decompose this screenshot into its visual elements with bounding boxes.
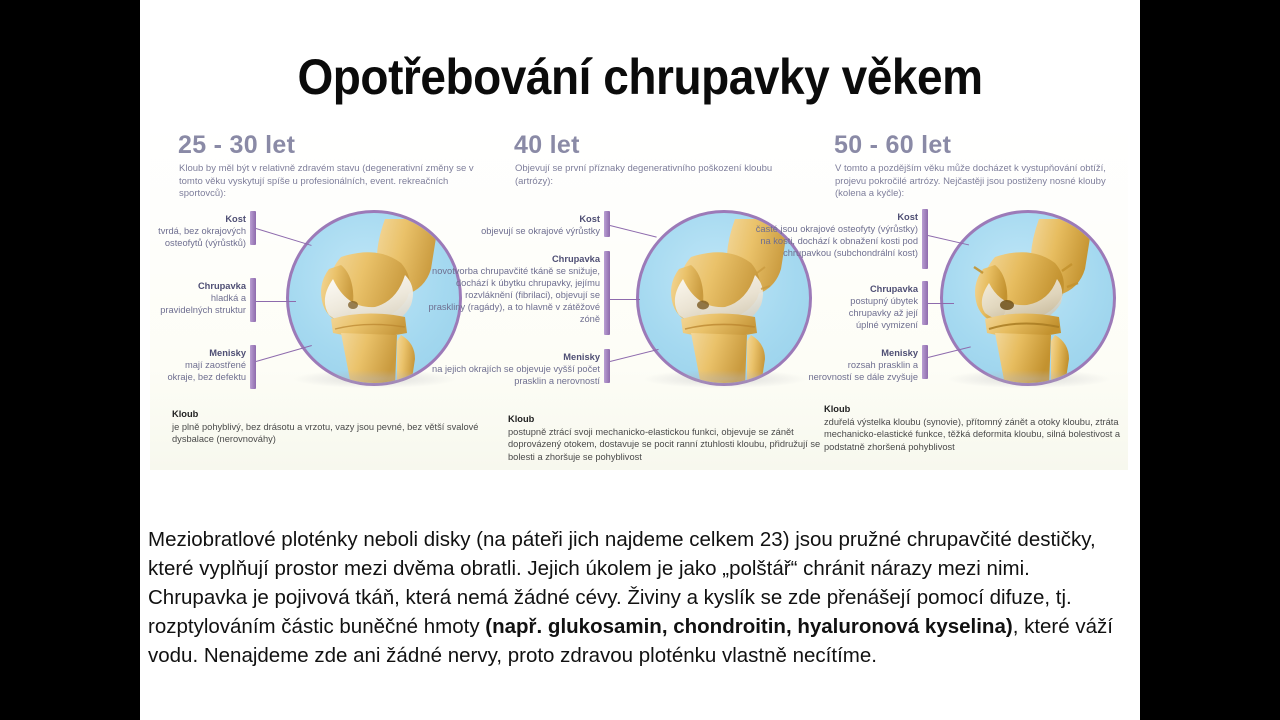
label-text: objevují se okrajové výrůstky bbox=[481, 226, 600, 236]
label-chrupavka: Chrupavka postupný úbytek chrupavky až j… bbox=[828, 283, 918, 331]
slide-content: Opotřebování chrupavky věkem 25 - 30 let… bbox=[140, 0, 1140, 720]
joint-summary-text: je plně pohyblivý, bez drásotu a vrzotu,… bbox=[172, 422, 478, 445]
leader-chrupavka bbox=[610, 299, 640, 300]
knee-shadow bbox=[948, 370, 1110, 388]
label-title: Kost bbox=[897, 212, 918, 222]
tick-kost bbox=[922, 209, 928, 269]
label-menisky: Menisky mají zaostřené okraje, bez defek… bbox=[158, 347, 246, 383]
label-chrupavka: Chrupavka hladká a pravidelných struktur bbox=[158, 280, 246, 316]
leader-chrupavka bbox=[256, 301, 296, 302]
label-text: postupný úbytek chrupavky až její úplné … bbox=[849, 296, 918, 330]
tick-menisky bbox=[922, 345, 928, 379]
slide-screen: Opotřebování chrupavky věkem 25 - 30 let… bbox=[0, 0, 1280, 720]
age-heading: 25 - 30 let bbox=[178, 133, 295, 158]
body-part-2-bold: (např. glukosamin, chondroitin, hyaluron… bbox=[485, 615, 1012, 638]
page-title: Opotřebování chrupavky věkem bbox=[180, 48, 1100, 106]
letterbox-left bbox=[0, 0, 140, 720]
label-text: mají zaostřené okraje, bez defektu bbox=[167, 360, 246, 382]
tick-kost bbox=[604, 211, 610, 237]
joint-summary-text: postupně ztrácí svoji mechanicko-elastic… bbox=[508, 427, 820, 462]
joint-summary-title: Kloub bbox=[508, 414, 534, 424]
body-paragraph: Meziobratlové ploténky neboli disky (na … bbox=[148, 525, 1113, 671]
label-menisky: Menisky rozsah prasklin a nerovností se … bbox=[802, 347, 918, 383]
knee-joint-diagram bbox=[943, 213, 1116, 386]
joint-summary: Kloub je plně pohyblivý, bez drásotu a v… bbox=[172, 408, 487, 446]
label-title: Kost bbox=[579, 214, 600, 224]
label-text: časté jsou okrajové osteofyty (výrůstky)… bbox=[756, 224, 918, 258]
label-kost: Kost časté jsou okrajové osteofyty (výrů… bbox=[746, 211, 918, 259]
age-intro-text: V tomto a pozdějším věku může docházet k… bbox=[835, 163, 1128, 201]
label-title: Chrupavka bbox=[198, 281, 246, 291]
joint-summary: Kloub postupně ztrácí svoji mechanicko-e… bbox=[508, 413, 838, 463]
tick-chrupavka bbox=[250, 278, 256, 322]
age-heading: 50 - 60 let bbox=[834, 133, 951, 158]
joint-summary: Kloub zduřelá výstelka kloubu (synovie),… bbox=[824, 403, 1124, 453]
label-title: Kost bbox=[225, 214, 246, 224]
label-title: Menisky bbox=[209, 348, 246, 358]
leader-chrupavka bbox=[928, 303, 954, 304]
age-column-50-60: 50 - 60 let V tomto a pozdějším věku můž… bbox=[818, 125, 1123, 470]
label-title: Menisky bbox=[563, 352, 600, 362]
age-heading: 40 let bbox=[514, 133, 580, 158]
label-kost: Kost objevují se okrajové výrůstky bbox=[476, 213, 600, 237]
label-menisky: Menisky na jejich okrajích se objevuje v… bbox=[426, 351, 600, 387]
label-chrupavka: Chrupavka novotvorba chrupavčité tkáně s… bbox=[426, 253, 600, 325]
label-text: novotvorba chrupavčité tkáně se snižuje,… bbox=[428, 266, 600, 324]
label-title: Menisky bbox=[881, 348, 918, 358]
knee-illustration-50-60 bbox=[940, 210, 1116, 386]
label-text: hladká a pravidelných struktur bbox=[160, 293, 246, 315]
age-intro-text: Kloub by měl být v relativně zdravém sta… bbox=[179, 163, 479, 201]
age-column-40: 40 let Objevují se první příznaky degene… bbox=[498, 125, 828, 470]
tick-menisky bbox=[604, 349, 610, 383]
joint-summary-text: zduřelá výstelka kloubu (synovie), příto… bbox=[824, 417, 1120, 452]
label-title: Chrupavka bbox=[870, 284, 918, 294]
label-text: tvrdá, bez okrajových osteofytů (výrůstk… bbox=[158, 226, 246, 248]
joint-summary-title: Kloub bbox=[824, 404, 850, 414]
joint-summary-title: Kloub bbox=[172, 409, 198, 419]
label-title: Chrupavka bbox=[552, 254, 600, 264]
knee-shadow bbox=[644, 370, 806, 388]
tick-menisky bbox=[250, 345, 256, 389]
knee-circle bbox=[940, 210, 1116, 386]
label-kost: Kost tvrdá, bez okrajových osteofytů (vý… bbox=[158, 213, 246, 249]
letterbox-right bbox=[1140, 0, 1280, 720]
label-text: na jejich okrajích se objevuje vyšší poč… bbox=[432, 364, 600, 386]
tick-chrupavka bbox=[604, 251, 610, 335]
age-intro-text: Objevují se první příznaky degenerativní… bbox=[515, 163, 805, 188]
cartilage-wear-infographic: 25 - 30 let Kloub by měl být v relativně… bbox=[150, 125, 1128, 470]
label-text: rozsah prasklin a nerovností se dále zvy… bbox=[808, 360, 918, 382]
